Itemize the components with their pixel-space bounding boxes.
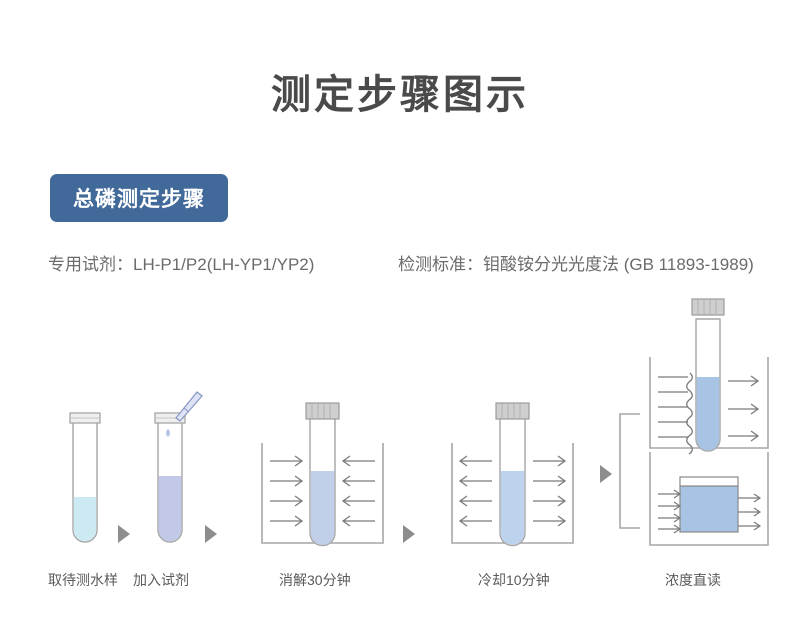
absorption-wave [687, 373, 693, 454]
step-label-2: 加入试剂 [133, 570, 189, 590]
incident-light-rays [658, 377, 688, 437]
cuvette-liquid [680, 486, 738, 532]
tube-cap [306, 403, 339, 419]
meta-row: 专用试剂：LH-P1/P2(LH-YP1/YP2) 检测标准：钼酸铵分光光度法 … [0, 250, 800, 274]
steps-diagram [0, 300, 800, 590]
incident-light-arrows [658, 490, 680, 533]
tube-liquid [159, 476, 182, 541]
step-label-3: 消解30分钟 [279, 570, 351, 590]
pipette-icon [176, 392, 202, 421]
separator-arrow-2 [205, 525, 217, 543]
tube-liquid [311, 471, 335, 545]
page-title: 测定步骤图示 [0, 62, 800, 120]
step-3-illustration [250, 403, 395, 555]
cool-arrows-left [460, 456, 492, 526]
page-root: 测定步骤图示 总磷测定步骤 专用试剂：LH-P1/P2(LH-YP1/YP2) … [0, 0, 800, 631]
step-5-lower-illustration [640, 450, 790, 560]
cuvette-top [680, 477, 738, 486]
step-1-illustration [55, 400, 115, 555]
section-badge: 总磷测定步骤 [50, 174, 228, 222]
standard-info: 检测标准：钼酸铵分光光度法 (GB 11893-1989) [398, 250, 754, 275]
heat-arrows-right [343, 456, 375, 526]
reagent-droplet [166, 429, 170, 436]
step-4-illustration [440, 403, 585, 555]
separator-arrow-3 [403, 525, 415, 543]
tube-cap [496, 403, 529, 419]
section-badge-label: 总磷测定步骤 [73, 183, 205, 213]
tube-liquid [697, 377, 720, 450]
cool-arrows-right [533, 456, 565, 526]
tube-liquid [501, 471, 525, 545]
step-5-upper-illustration [640, 315, 790, 460]
separator-arrow-1 [118, 525, 130, 543]
step-label-5: 浓度直读 [665, 570, 721, 590]
reagent-info: 专用试剂：LH-P1/P2(LH-YP1/YP2) [48, 250, 314, 275]
heat-arrows-left [270, 456, 302, 526]
bracket-connector [620, 414, 640, 528]
transmitted-light-arrows [728, 376, 758, 441]
step-5-bracket [616, 412, 642, 530]
step-label-1: 取待测水样 [48, 570, 118, 590]
step-label-4: 冷却10分钟 [478, 570, 550, 590]
tube-liquid [74, 497, 97, 541]
separator-arrow-4 [600, 465, 612, 483]
transmitted-light-arrows [738, 494, 760, 530]
tube-cap [692, 299, 724, 315]
